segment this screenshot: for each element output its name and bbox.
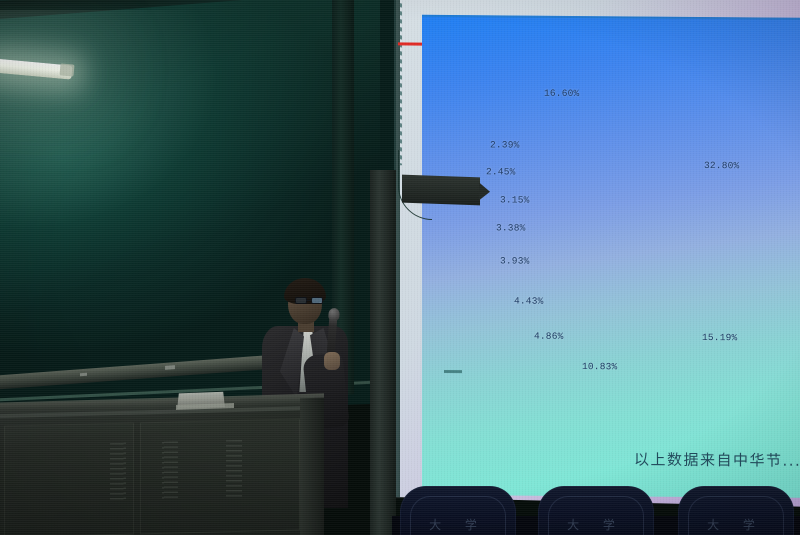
podium-side xyxy=(300,398,324,535)
wall-mounted-unit xyxy=(402,175,480,206)
slide-dash-mark xyxy=(444,370,462,373)
seat-label: 大 学 xyxy=(538,516,654,533)
pie-slice-label: 3.38% xyxy=(496,222,526,233)
pie-slice-label: 2.39% xyxy=(490,139,520,150)
red-marker-line xyxy=(398,42,424,45)
pie-slice-label: 15.19% xyxy=(702,332,737,343)
seat-label: 大 学 xyxy=(400,516,516,533)
presentation-slide: 32.80%15.19%10.83%4.86%4.43%3.93%3.38%3.… xyxy=(422,15,800,498)
slide-source-note: 以上数据来自中华节... xyxy=(634,448,800,470)
pie-slice-label: 32.80% xyxy=(704,160,739,171)
pie-slice-label: 16.60% xyxy=(544,88,579,99)
seat: 大 学 xyxy=(678,486,794,535)
glasses-icon xyxy=(295,297,325,305)
screen-dashed-edge xyxy=(400,0,402,165)
photo-scene: 32.80%15.19%10.83%4.86%4.43%3.93%3.38%3.… xyxy=(0,0,800,535)
pie-slice-label: 3.15% xyxy=(500,194,530,205)
pie-slice-label: 4.86% xyxy=(534,331,564,342)
pie-slice-label: 2.45% xyxy=(486,166,516,177)
pie-slice-label: 3.93% xyxy=(500,255,530,266)
presenter-hand xyxy=(324,352,340,370)
pie-slice-label: 10.83% xyxy=(582,361,617,372)
seat: 大 学 xyxy=(400,486,516,535)
seat: 大 学 xyxy=(538,486,654,535)
seat-label: 大 学 xyxy=(678,516,794,533)
projection-screen: 32.80%15.19%10.83%4.86%4.43%3.93%3.38%3.… xyxy=(396,0,800,507)
auditorium-seats: 大 学 大 学 大 学 xyxy=(392,470,800,535)
pie-slice-label: 4.43% xyxy=(514,296,544,307)
lamp-end-cap xyxy=(59,63,74,76)
